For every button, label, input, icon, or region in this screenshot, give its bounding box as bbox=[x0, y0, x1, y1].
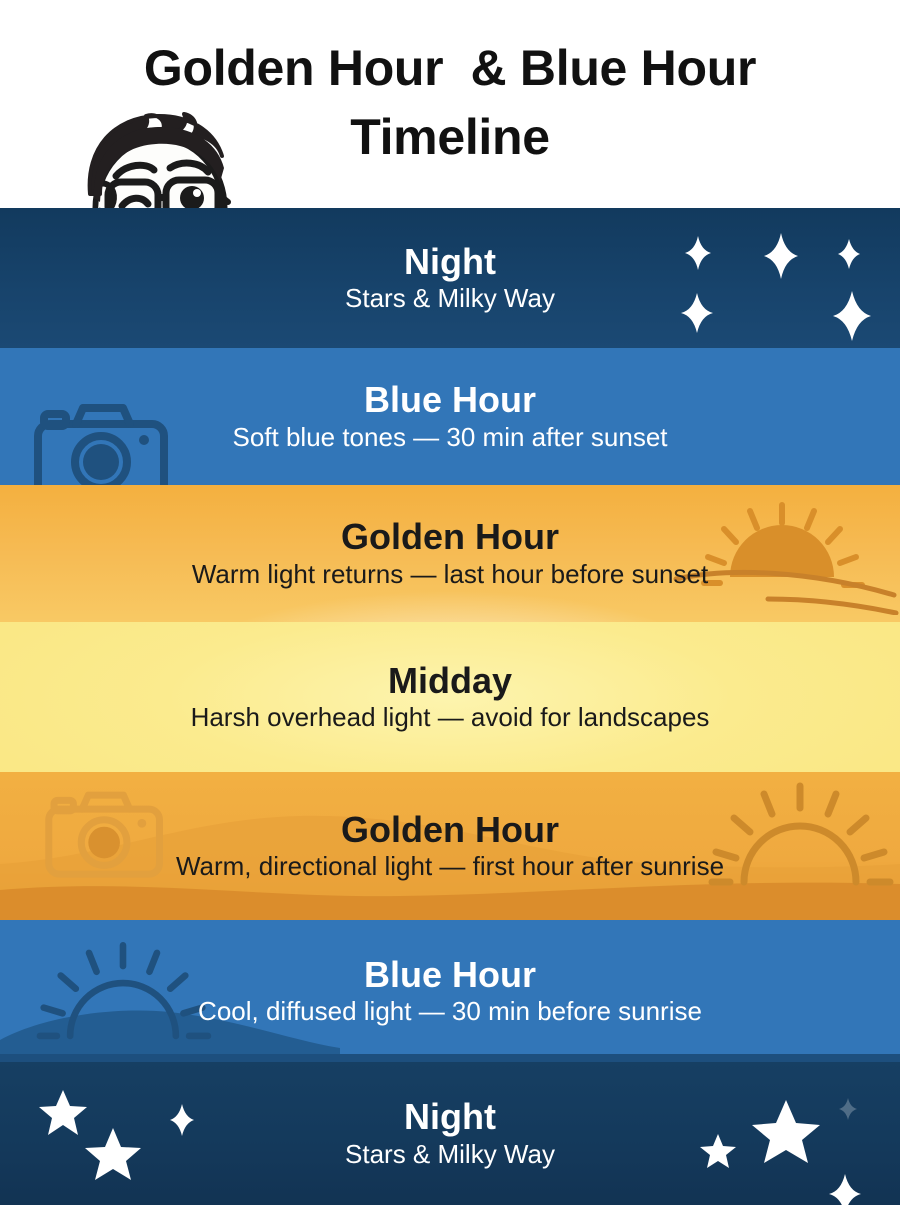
band-blue-hour-bottom-text: Blue Hour Cool, diffused light — 30 min … bbox=[0, 920, 900, 1062]
band-subtitle: Soft blue tones — 30 min after sunset bbox=[232, 423, 667, 452]
band-golden-hour-bottom: Golden Hour Warm, directional light — fi… bbox=[0, 772, 900, 920]
band-golden-hour-top: Golden Hour Warm light returns — last ho… bbox=[0, 485, 900, 622]
band-subtitle: Cool, diffused light — 30 min before sun… bbox=[198, 997, 702, 1026]
golden-hour-timeline-infographic: Golden Hour & Blue Hour Timeline bbox=[0, 0, 900, 1205]
band-subtitle: Warm, directional light — first hour aft… bbox=[176, 852, 724, 881]
band-subtitle: Harsh overhead light — avoid for landsca… bbox=[191, 703, 710, 732]
band-heading: Night bbox=[404, 243, 496, 282]
band-subtitle: Warm light returns — last hour before su… bbox=[192, 560, 708, 589]
band-heading: Blue Hour bbox=[364, 381, 536, 420]
band-golden-hour-bottom-text: Golden Hour Warm, directional light — fi… bbox=[0, 772, 900, 920]
band-night-top: Night Stars & Milky Way bbox=[0, 208, 900, 348]
band-night-top-text: Night Stars & Milky Way bbox=[0, 208, 900, 348]
band-golden-hour-top-text: Golden Hour Warm light returns — last ho… bbox=[0, 485, 900, 622]
band-subtitle: Stars & Milky Way bbox=[345, 1140, 555, 1169]
band-heading: Night bbox=[404, 1098, 496, 1137]
band-subtitle: Stars & Milky Way bbox=[345, 284, 555, 313]
band-blue-hour-top-text: Blue Hour Soft blue tones — 30 min after… bbox=[0, 348, 900, 485]
band-blue-hour-bottom: Blue Hour Cool, diffused light — 30 min … bbox=[0, 920, 900, 1062]
band-blue-hour-top: Blue Hour Soft blue tones — 30 min after… bbox=[0, 348, 900, 485]
band-midday: Midday Harsh overhead light — avoid for … bbox=[0, 622, 900, 772]
band-heading: Golden Hour bbox=[341, 811, 559, 850]
band-heading: Golden Hour bbox=[341, 518, 559, 557]
band-night-bottom-text: Night Stars & Milky Way bbox=[0, 1062, 900, 1205]
band-heading: Midday bbox=[388, 662, 512, 701]
band-night-bottom: Night Stars & Milky Way bbox=[0, 1062, 900, 1205]
band-heading: Blue Hour bbox=[364, 956, 536, 995]
band-midday-text: Midday Harsh overhead light — avoid for … bbox=[0, 622, 900, 772]
